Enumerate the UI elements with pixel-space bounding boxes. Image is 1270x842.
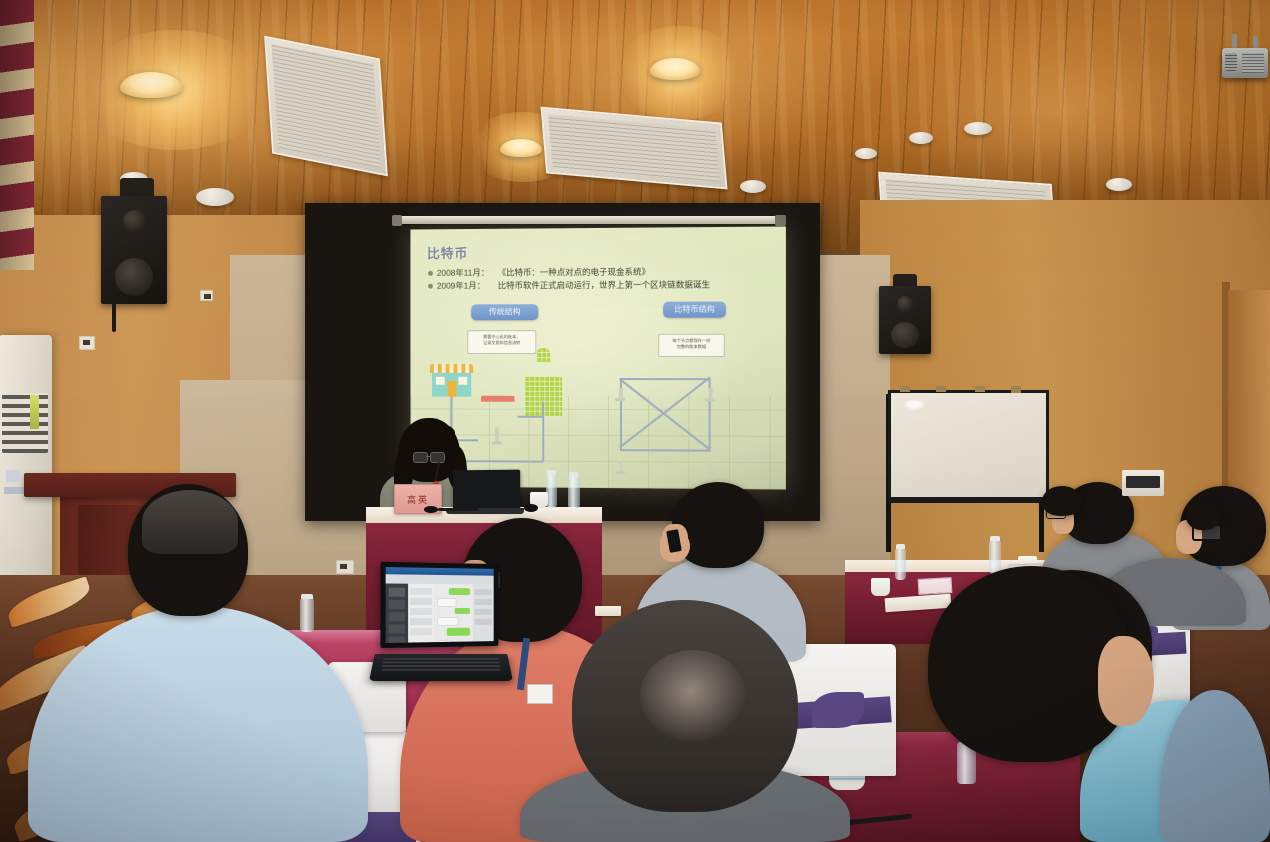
wall-outlet-3 bbox=[200, 290, 213, 301]
conference-room-photo: 比特币 2008年11月： 《比特币：一种点对点的电子现金系统》 2009年1月… bbox=[0, 0, 1270, 842]
bullet-dot-icon bbox=[428, 284, 433, 289]
presenter-laptop-screen bbox=[453, 470, 520, 511]
water-bottle-right-2 bbox=[989, 540, 1001, 574]
roller-end-right bbox=[775, 215, 786, 226]
smoke-detector-4 bbox=[909, 132, 933, 144]
smoke-detector-2 bbox=[740, 180, 766, 193]
app-message-pane[interactable] bbox=[434, 584, 473, 642]
handout-papers-mid bbox=[595, 606, 621, 616]
glasses-bridge bbox=[426, 456, 431, 457]
presenter-fringe bbox=[405, 422, 455, 444]
water-bottle-left-far bbox=[300, 598, 314, 632]
attendee-hair-1 bbox=[142, 490, 238, 554]
app-detail-pane[interactable] bbox=[473, 584, 494, 641]
attendee-face-5 bbox=[1098, 636, 1154, 726]
bullet-text-2: 比特币软件正式启动运行，世界上第一个区块链数据诞生 bbox=[498, 278, 710, 291]
wall-outlet-2 bbox=[336, 560, 354, 574]
app-conversation-list[interactable] bbox=[408, 584, 435, 643]
roller-end-left bbox=[392, 215, 402, 226]
slide-tag-traditional: 传统结构 bbox=[471, 304, 538, 320]
glasses-lens-left bbox=[413, 452, 428, 463]
smoke-detector-1 bbox=[196, 188, 234, 206]
shop-body-icon bbox=[432, 373, 471, 397]
ledger-clip-icon bbox=[705, 472, 715, 475]
wall-outlet-1 bbox=[79, 336, 95, 350]
ledger-clip-icon bbox=[492, 441, 502, 444]
diagram-link bbox=[542, 402, 544, 440]
microphone-base-2 bbox=[424, 506, 438, 513]
slide-bullet-1: 2008年11月： 《比特币：一种点对点的电子现金系统》 bbox=[428, 265, 778, 279]
attendee-head-10 bbox=[1186, 500, 1220, 530]
bullet-text-1: 《比特币：一种点对点的电子现金系统》 bbox=[498, 266, 650, 279]
whiteboard-clip-4 bbox=[1011, 386, 1021, 393]
slide-bullet-list: 2008年11月： 《比特币：一种点对点的电子现金系统》 2009年1月： 比特… bbox=[428, 265, 778, 293]
slide-bullet-2: 2009年1月： 比特币软件正式启动运行，世界上第一个区块链数据诞生 bbox=[428, 278, 778, 292]
banner-shading bbox=[0, 0, 34, 270]
badge-2 bbox=[527, 684, 553, 704]
whiteboard bbox=[888, 390, 1049, 501]
microphone-cable bbox=[438, 508, 478, 511]
laptop-app-window[interactable] bbox=[386, 567, 494, 643]
ceiling-vent-1 bbox=[264, 36, 388, 177]
central-bank-sign bbox=[481, 396, 515, 402]
bullet-date-1: 2008年11月： bbox=[437, 267, 494, 279]
ceiling-projector bbox=[1222, 48, 1268, 78]
ledger-clip-icon bbox=[615, 398, 625, 401]
slide-note-bitcoin: 每个节点都保存一份 完整的账本数据 bbox=[658, 334, 725, 357]
bottle-cap bbox=[569, 472, 578, 477]
mesh-link-top bbox=[620, 378, 711, 380]
speaker-cable-left bbox=[112, 300, 116, 332]
attendee-head-11 bbox=[1042, 486, 1082, 516]
slide-tag-bitcoin: 比特币结构 bbox=[663, 302, 726, 318]
app-sidebar[interactable] bbox=[386, 583, 408, 642]
ceiling-lamp-3 bbox=[500, 139, 542, 157]
air-conditioner-panel bbox=[6, 470, 20, 482]
ceiling-lamp-2 bbox=[650, 58, 700, 80]
whiteboard-clip-2 bbox=[936, 386, 946, 392]
audience-name-card-1 bbox=[918, 577, 953, 595]
slide-note-traditional: 需要中心化的账本， 记录交易和信息流转 bbox=[467, 330, 536, 354]
whiteboard-clip-3 bbox=[975, 386, 985, 392]
smoke-detector-3 bbox=[855, 148, 877, 159]
building-icon-top-cap bbox=[536, 348, 550, 363]
diagram-link bbox=[542, 440, 544, 462]
wall-speaker-left bbox=[101, 196, 167, 304]
projection-screen: 比特币 2008年11月： 《比特币：一种点对点的电子现金系统》 2009年1月… bbox=[410, 226, 785, 489]
paper-cup-right-1 bbox=[871, 578, 890, 596]
bottle-cap bbox=[990, 536, 1000, 541]
water-bottle-right-1 bbox=[895, 548, 906, 580]
ceiling-lamp-1 bbox=[120, 72, 182, 98]
projector-screen-roller bbox=[397, 216, 779, 224]
chair-bow-mid-right bbox=[812, 692, 864, 728]
smoke-detector-5 bbox=[1106, 178, 1132, 191]
air-conditioner-grill bbox=[2, 393, 48, 453]
attendee-laptop-base bbox=[369, 654, 513, 681]
bullet-date-2: 2009年1月： bbox=[437, 280, 494, 292]
bullet-dot-icon bbox=[428, 271, 433, 276]
slide-title: 比特币 bbox=[427, 243, 468, 262]
bottle-cap bbox=[301, 594, 313, 599]
whiteboard-tray bbox=[888, 497, 1043, 503]
ledger-clip-icon bbox=[705, 398, 715, 401]
bottle-cap bbox=[547, 470, 556, 475]
diagram-link bbox=[518, 416, 544, 418]
air-conditioner-sticker bbox=[30, 395, 39, 429]
bottle-cap bbox=[896, 544, 905, 549]
smoke-detector-6 bbox=[964, 122, 992, 135]
equipment-panel bbox=[1126, 476, 1160, 488]
ledger-clip-icon bbox=[615, 471, 625, 474]
microphone-base-1 bbox=[524, 504, 538, 512]
attendee-laptop-screen[interactable] bbox=[380, 562, 498, 648]
water-bottle-podium-2 bbox=[568, 476, 580, 509]
air-conditioner-label bbox=[4, 487, 26, 494]
whiteboard-clip-1 bbox=[900, 386, 910, 392]
shop-roof-icon bbox=[430, 364, 473, 373]
attendee-scalp-4 bbox=[640, 650, 746, 742]
wall-speaker-right bbox=[879, 286, 931, 354]
